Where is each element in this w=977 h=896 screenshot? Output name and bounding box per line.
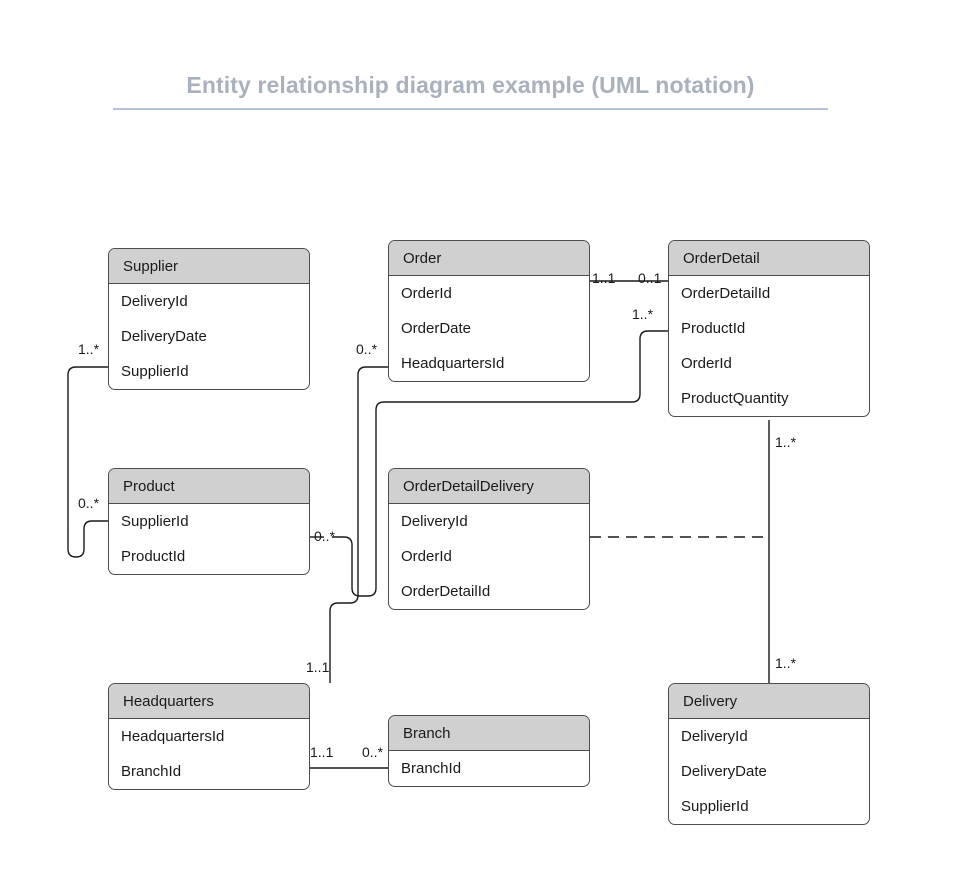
entity-orderdetaildelivery[interactable]: OrderDetailDelivery DeliveryId OrderId O…	[388, 468, 590, 610]
attribute-row: OrderId	[389, 539, 589, 574]
entity-order[interactable]: Order OrderId OrderDate HeadquartersId	[388, 240, 590, 382]
attribute-row: DeliveryDate	[109, 319, 309, 354]
entity-headquarters-attributes: HeadquartersId BranchId	[109, 719, 309, 789]
attribute-row: HeadquartersId	[389, 346, 589, 381]
entity-branch[interactable]: Branch BranchId	[388, 715, 590, 787]
attribute-row: DeliveryId	[109, 284, 309, 319]
connector-order-headquarters	[330, 367, 388, 683]
attribute-row: ProductQuantity	[669, 381, 869, 416]
entity-supplier-title: Supplier	[109, 249, 309, 284]
attribute-row: DeliveryId	[389, 504, 589, 539]
multiplicity-label-delivery-top: 1..*	[775, 655, 796, 671]
attribute-row: SupplierId	[669, 789, 869, 824]
attribute-row: SupplierId	[109, 504, 309, 539]
diagram-title: Entity relationship diagram example (UML…	[113, 72, 828, 110]
entity-headquarters-title: Headquarters	[109, 684, 309, 719]
multiplicity-label-orderdetail-left-bottom: 1..*	[632, 306, 653, 322]
multiplicity-label-orderdetail-left-top: 0..1	[638, 270, 661, 286]
multiplicity-label-order-right: 1..1	[592, 270, 615, 286]
attribute-row: BranchId	[389, 751, 589, 786]
multiplicity-label-product-right: 0..*	[314, 528, 335, 544]
entity-orderdetail-attributes: OrderDetailId ProductId OrderId ProductQ…	[669, 276, 869, 416]
attribute-row: BranchId	[109, 754, 309, 789]
entity-supplier-attributes: DeliveryId DeliveryDate SupplierId	[109, 284, 309, 389]
multiplicity-label-headquarters-top: 1..1	[306, 659, 329, 675]
entity-branch-title: Branch	[389, 716, 589, 751]
attribute-row: ProductId	[669, 311, 869, 346]
connector-supplier-product	[68, 367, 108, 557]
diagram-title-text: Entity relationship diagram example (UML…	[113, 72, 828, 99]
entity-headquarters[interactable]: Headquarters HeadquartersId BranchId	[108, 683, 310, 790]
attribute-row: OrderId	[669, 346, 869, 381]
multiplicity-label-headquarters-right: 1..1	[310, 744, 333, 760]
multiplicity-label-supplier-supplierid: 1..*	[78, 341, 99, 357]
entity-delivery[interactable]: Delivery DeliveryId DeliveryDate Supplie…	[668, 683, 870, 825]
entity-delivery-title: Delivery	[669, 684, 869, 719]
attribute-row: OrderDetailId	[669, 276, 869, 311]
multiplicity-label-order-headquartersid: 0..*	[356, 341, 377, 357]
entity-order-attributes: OrderId OrderDate HeadquartersId	[389, 276, 589, 381]
entity-supplier[interactable]: Supplier DeliveryId DeliveryDate Supplie…	[108, 248, 310, 390]
attribute-row: ProductId	[109, 539, 309, 574]
multiplicity-label-product-supplierid: 0..*	[78, 495, 99, 511]
entity-orderdetail[interactable]: OrderDetail OrderDetailId ProductId Orde…	[668, 240, 870, 417]
entity-orderdetaildelivery-title: OrderDetailDelivery	[389, 469, 589, 504]
attribute-row: DeliveryId	[669, 719, 869, 754]
entity-branch-attributes: BranchId	[389, 751, 589, 786]
attribute-row: HeadquartersId	[109, 719, 309, 754]
entity-product-title: Product	[109, 469, 309, 504]
attribute-row: OrderDetailId	[389, 574, 589, 609]
entity-order-title: Order	[389, 241, 589, 276]
attribute-row: OrderId	[389, 276, 589, 311]
attribute-row: SupplierId	[109, 354, 309, 389]
entity-orderdetaildelivery-attributes: DeliveryId OrderId OrderDetailId	[389, 504, 589, 609]
attribute-row: OrderDate	[389, 311, 589, 346]
entity-delivery-attributes: DeliveryId DeliveryDate SupplierId	[669, 719, 869, 824]
multiplicity-label-branch-left: 0..*	[362, 744, 383, 760]
entity-product[interactable]: Product SupplierId ProductId	[108, 468, 310, 575]
entity-product-attributes: SupplierId ProductId	[109, 504, 309, 574]
multiplicity-label-orderdetail-bottom: 1..*	[775, 434, 796, 450]
attribute-row: DeliveryDate	[669, 754, 869, 789]
entity-orderdetail-title: OrderDetail	[669, 241, 869, 276]
